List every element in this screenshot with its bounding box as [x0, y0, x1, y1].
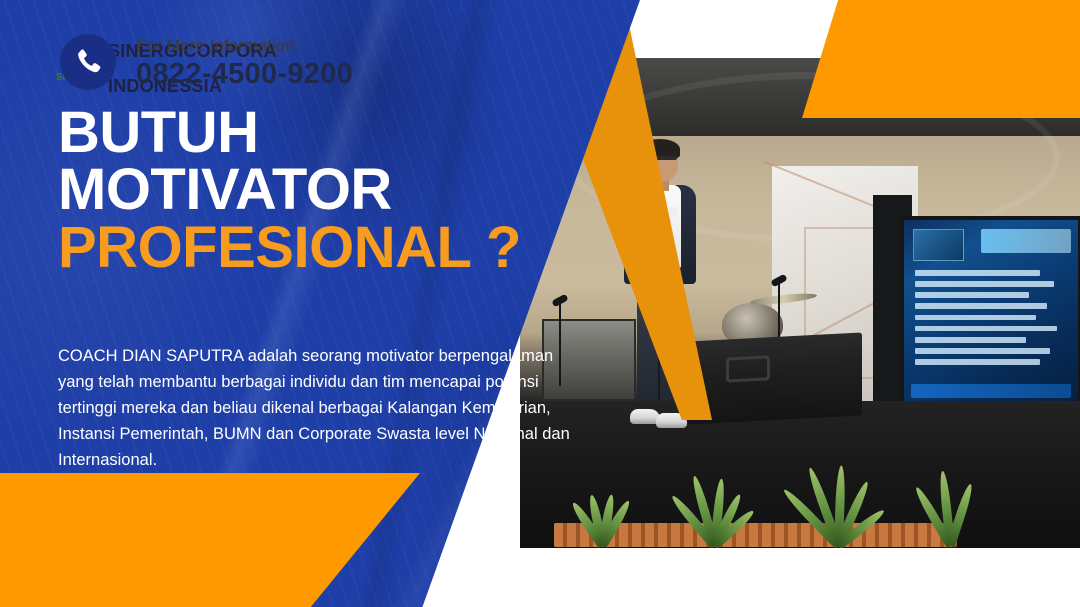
photo-speaker-shoe — [630, 409, 660, 424]
photo-led-text-line — [915, 359, 1040, 365]
promo-poster: BUTUH MOTIVATOR PROFESIONAL ? COACH DIAN… — [0, 0, 1080, 607]
contact-text-block: For More Information 0822-4500-9200 — [136, 36, 353, 91]
headline-line-3: PROFESIONAL ? — [58, 219, 521, 276]
photo-foreground-plants — [520, 440, 1080, 548]
body-copy-block: COACH DIAN SAPUTRA adalah seorang motiva… — [58, 343, 570, 473]
photo-led-footer-bar — [911, 384, 1071, 399]
photo-led-text-line — [915, 326, 1057, 332]
photo-led-text-line — [915, 337, 1026, 343]
photo-led-screen — [904, 220, 1078, 406]
photo-led-title-block — [981, 229, 1071, 253]
photo-stage-monitor-speaker — [688, 333, 862, 425]
white-bottom-strip — [520, 548, 1080, 607]
contact-phone-number[interactable]: 0822-4500-9200 — [136, 58, 353, 91]
headline-block: BUTUH MOTIVATOR PROFESIONAL ? — [58, 104, 521, 276]
headline-line-2: MOTIVATOR — [58, 161, 521, 218]
brand-banner — [802, 0, 1080, 118]
photo-led-text-line — [915, 270, 1040, 276]
photo-led-text-line — [915, 292, 1030, 298]
photo-led-text-line — [915, 348, 1050, 354]
contact-label: For More Information — [136, 36, 353, 56]
photo-led-text-line — [915, 281, 1054, 287]
phone-icon[interactable] — [60, 34, 116, 90]
body-paragraph: COACH DIAN SAPUTRA adalah seorang motiva… — [58, 343, 570, 473]
photo-led-text-line — [915, 315, 1037, 321]
photo-led-text-line — [915, 303, 1047, 309]
photo-led-thumbnail — [913, 229, 964, 261]
photo-speaker-pocket-square — [668, 207, 677, 216]
headline-line-1: BUTUH — [58, 104, 521, 161]
